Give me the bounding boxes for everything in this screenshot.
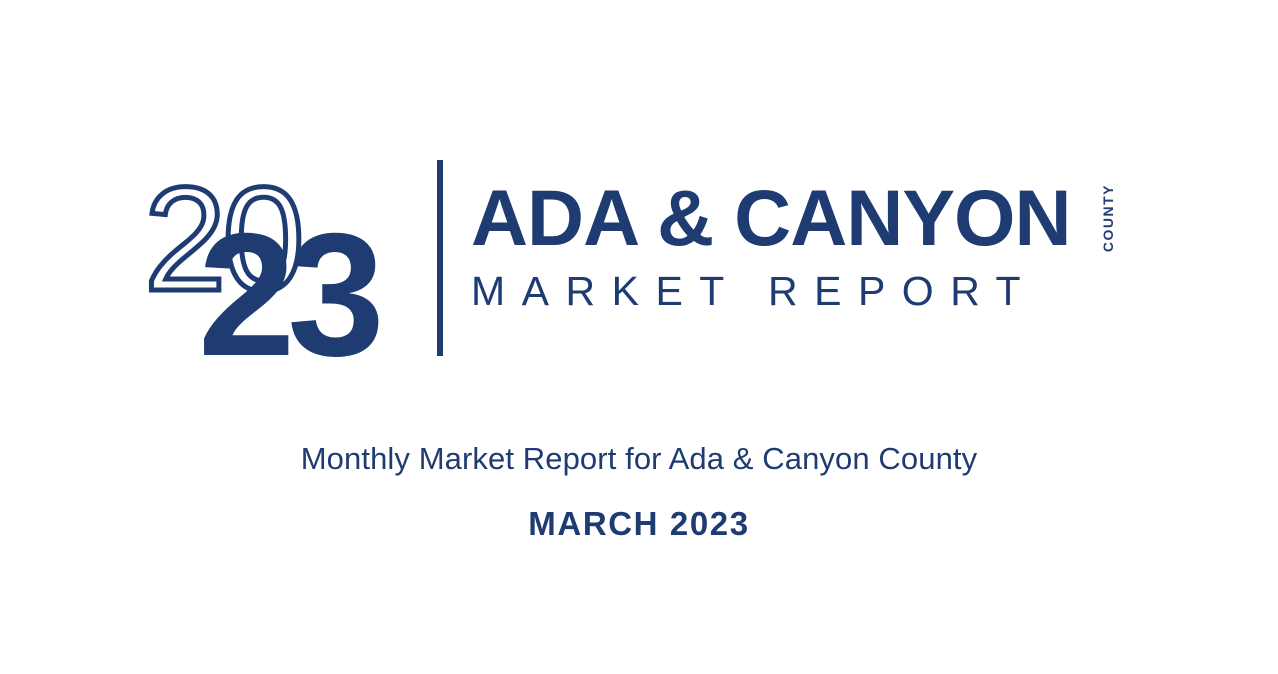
cover-caption-block: Monthly Market Report for Ada & Canyon C… — [0, 440, 1278, 544]
report-cover-page: 20 23 ADA & CANYON COUNTY MARKET REPORT … — [0, 0, 1278, 674]
brand-qualifier-county: COUNTY — [1100, 184, 1116, 252]
year-2023-logo-mark: 20 23 — [140, 150, 420, 365]
year-solid-text: 23 — [198, 198, 378, 393]
report-subtitle: Monthly Market Report for Ada & Canyon C… — [0, 440, 1278, 477]
brand-tagline-text: MARKET REPORT — [471, 271, 1131, 312]
brand-logo-lockup: 20 23 ADA & CANYON COUNTY MARKET REPORT — [140, 150, 1140, 365]
brand-name-text: ADA & CANYON — [471, 180, 1131, 255]
report-date: MARCH 2023 — [0, 504, 1278, 544]
brand-wordmark: ADA & CANYON COUNTY MARKET REPORT — [471, 180, 1131, 312]
logo-divider-rule — [437, 160, 443, 356]
